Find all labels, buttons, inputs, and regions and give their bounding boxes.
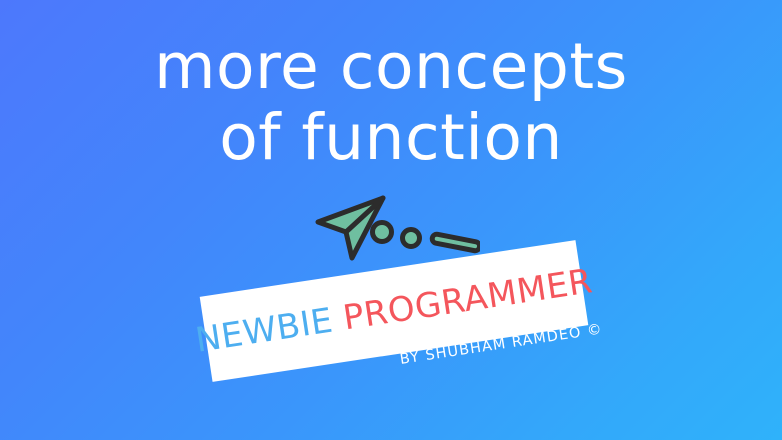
title-line-1: more concepts xyxy=(0,32,782,103)
trail-bar-icon xyxy=(431,233,480,251)
slide-canvas: more concepts of function NEWBIE PROGRAM… xyxy=(0,0,782,440)
page-title: more concepts of function xyxy=(0,32,782,173)
trail-dot-small-icon xyxy=(403,230,420,247)
brand-word-programmer: PROGRAMMER xyxy=(341,261,596,338)
trail-dot-large-icon xyxy=(373,223,392,242)
cursor-arrow-logo xyxy=(310,192,480,264)
title-line-2: of function xyxy=(0,103,782,174)
brand-word-newbie: NEWBIE xyxy=(193,301,336,361)
